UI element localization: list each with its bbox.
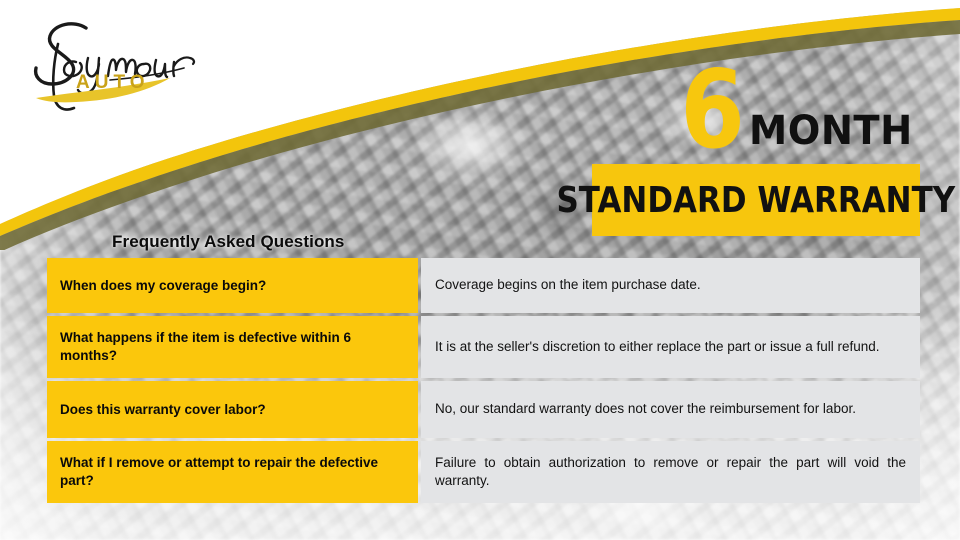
duration-unit: MONTH — [749, 111, 913, 157]
faq-answer-cell: No, our standard warranty does not cover… — [421, 381, 920, 438]
standard-warranty-label: STANDARD WARRANTY — [557, 180, 956, 221]
faq-answer-cell: Failure to obtain authorization to remov… — [421, 441, 920, 503]
table-row: What happens if the item is defective wi… — [47, 316, 920, 378]
faq-question-cell: When does my coverage begin? — [47, 258, 418, 313]
faq-question-cell: What happens if the item is defective wi… — [47, 316, 418, 378]
faq-answer-text: Failure to obtain authorization to remov… — [435, 454, 906, 490]
faq-answer-text: No, our standard warranty does not cover… — [435, 400, 906, 418]
standard-warranty-banner: STANDARD WARRANTY — [592, 164, 920, 236]
faq-answer-cell: It is at the seller's discretion to eith… — [421, 316, 920, 378]
logo-sub-text: AUTO — [76, 72, 149, 93]
faq-table: When does my coverage begin? Coverage be… — [47, 258, 920, 503]
faq-answer-cell: Coverage begins on the item purchase dat… — [421, 258, 920, 313]
faq-answer-text: It is at the seller's discretion to eith… — [435, 338, 906, 356]
table-row: What if I remove or attempt to repair th… — [47, 441, 920, 503]
faq-answer-text: Coverage begins on the item purchase dat… — [435, 276, 906, 294]
seymour-auto-logo: AUTO — [14, 14, 204, 114]
duration-number: 6 — [681, 66, 744, 157]
faq-question-cell: What if I remove or attempt to repair th… — [47, 441, 418, 503]
table-row: Does this warranty cover labor? No, our … — [47, 381, 920, 438]
table-row: When does my coverage begin? Coverage be… — [47, 258, 920, 313]
warranty-faq-slide: AUTO 6 MONTH STANDARD WARRANTY Frequentl… — [0, 0, 960, 540]
faq-heading: Frequently Asked Questions — [112, 232, 344, 252]
warranty-duration: 6 MONTH — [600, 52, 920, 157]
faq-question-cell: Does this warranty cover labor? — [47, 381, 418, 438]
